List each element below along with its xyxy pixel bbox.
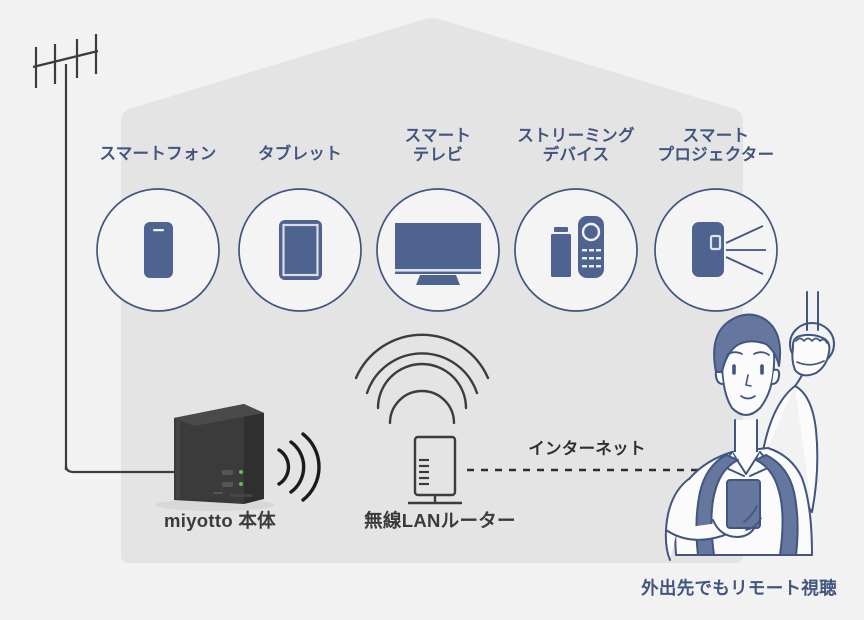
diagram-canvas: スマートフォン タブレット スマート テレビ ストリーミング デバイス スマート… [0,0,864,620]
label-line-2: プロジェクター [634,146,798,165]
remote-viewing-label: 外出先でもリモート視聴 [614,578,864,599]
router-label: 無線LANルーター [340,510,540,532]
nas-label: miyotto 本体 [125,510,315,532]
device-label-smart-tv: スマート テレビ [373,127,503,166]
person-with-smartphone-icon [666,292,834,560]
label-line-1: スマート [373,127,503,146]
label-line-2: テレビ [373,146,503,165]
device-label-projector: スマート プロジェクター [634,127,798,166]
label-line-1: スマート [634,127,798,146]
device-label-tablet: タブレット [230,145,370,164]
internet-label: インターネット [504,440,670,459]
device-label-smartphone: スマートフォン [78,145,238,164]
